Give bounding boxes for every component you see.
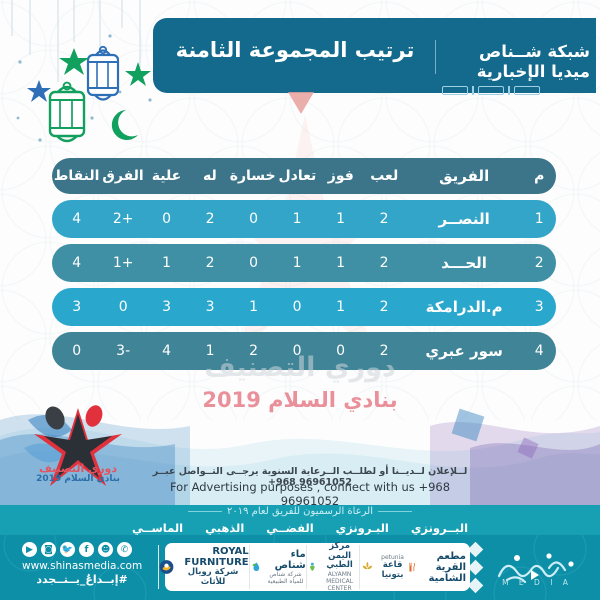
table-row[interactable]: 1 النصــر 2 1 1 0 2 0 +2 4 bbox=[52, 200, 556, 238]
brand-block: شبكة شــناص ميديا الإخبارية bbox=[442, 42, 590, 95]
sponsor-name-en: شركة شناص للمياه الطبيعية bbox=[265, 571, 305, 585]
logo-dashes-icon bbox=[442, 86, 590, 95]
sponsor-logo-petunia-hall[interactable]: petunia قاعة بتونيا bbox=[359, 545, 408, 589]
twitter-icon[interactable]: 🐦 bbox=[60, 542, 75, 557]
table-header-row: م الفريق لعب فوز تعادل خسارة له علية الف… bbox=[52, 158, 556, 194]
sponsors-caption: الرعاة الرسميون للفريق لعام ٢٠١٩ bbox=[0, 506, 600, 517]
cell-points: 4 bbox=[52, 211, 101, 227]
cell-win: 1 bbox=[319, 299, 362, 315]
header-pointer-icon bbox=[288, 92, 314, 114]
sponsor-name-ar: مركز اليمن الطبي bbox=[320, 542, 358, 571]
column-header-points: النقاط bbox=[52, 168, 101, 184]
table-row[interactable]: 3 م.الدرامكة 2 1 0 1 3 3 0 3 bbox=[52, 288, 556, 326]
instagram-icon[interactable]: ◙ bbox=[41, 542, 56, 557]
cell-rank: 1 bbox=[522, 211, 556, 227]
cell-team: النصــر bbox=[406, 210, 523, 228]
sponsor-tiers: الماســي الذهبي الفضــي البـرونزي البــر… bbox=[0, 521, 600, 535]
cell-rank: 2 bbox=[522, 255, 556, 271]
sponsor-name-ar: شركة رويال للأثاث bbox=[177, 568, 248, 588]
cell-win: 1 bbox=[319, 255, 362, 271]
website-url[interactable]: www.shinasmedia.com bbox=[22, 560, 142, 572]
cell-win: 1 bbox=[319, 211, 362, 227]
sponsor-logo-shinas-water[interactable]: ماء شناص شركة شناص للمياه الطبيعية bbox=[249, 545, 306, 589]
sponsor-tier-gold: الذهبي bbox=[205, 521, 244, 535]
column-header-team: الفريق bbox=[406, 167, 522, 185]
tournament-logo-icon bbox=[22, 400, 134, 500]
table-row[interactable]: 2 الحـــد 2 1 1 0 2 1 +1 4 bbox=[52, 244, 556, 282]
cell-diff: +1 bbox=[101, 255, 144, 271]
cell-team: م.الدرامكة bbox=[406, 298, 523, 316]
sponsor-logo-restaurant[interactable]: مطعم القرية الشامية bbox=[408, 545, 466, 589]
cell-draw: 0 bbox=[275, 299, 318, 315]
caption-rule-left bbox=[378, 511, 412, 512]
media-logo-word: M E D I A bbox=[487, 578, 587, 587]
cell-loss: 1 bbox=[232, 299, 275, 315]
caption-rule-right bbox=[188, 511, 222, 512]
cell-loss: 0 bbox=[232, 211, 275, 227]
youtube-icon[interactable]: ▶ bbox=[22, 542, 37, 557]
cell-rank: 3 bbox=[522, 299, 556, 315]
tournament-logo-text-bottom: بنادي السلام 2019 bbox=[22, 474, 134, 484]
cell-played: 2 bbox=[362, 255, 405, 271]
header-divider bbox=[435, 40, 436, 74]
sponsor-name-ar: قاعة بتونيا bbox=[378, 561, 408, 581]
sponsor-logo-medical-center[interactable]: مركز اليمن الطبي ALYAMN MEDICAL CENTER bbox=[306, 545, 359, 589]
sponsor-logos: ROYAL FURNITURE شركة رويال للأثاث ماء شن… bbox=[165, 543, 470, 591]
column-header-diff: الفرق bbox=[101, 168, 144, 184]
standings-table: م الفريق لعب فوز تعادل خسارة له علية الف… bbox=[52, 158, 556, 376]
cell-draw: 1 bbox=[275, 255, 318, 271]
cell-played: 2 bbox=[362, 299, 405, 315]
cell-played: 2 bbox=[362, 211, 405, 227]
sponsor-logo-royal-furniture[interactable]: ROYAL FURNITURE شركة رويال للأثاث bbox=[158, 545, 248, 589]
snapchat-icon[interactable]: ☻ bbox=[98, 542, 113, 557]
cell-for: 2 bbox=[188, 255, 231, 271]
sponsor-name-en: ROYAL FURNITURE bbox=[177, 546, 248, 568]
column-header-rank: م bbox=[522, 168, 556, 184]
cell-points: 3 bbox=[52, 299, 101, 315]
cell-against: 1 bbox=[145, 255, 188, 271]
column-header-for: له bbox=[188, 168, 231, 184]
column-header-against: علية bbox=[145, 168, 188, 184]
royal-furniture-logo-icon bbox=[159, 556, 174, 578]
sponsor-name-ar: مطعم القرية الشامية bbox=[419, 551, 466, 584]
cell-for: 3 bbox=[188, 299, 231, 315]
column-header-win: فوز bbox=[319, 168, 362, 184]
facebook-icon[interactable]: f bbox=[79, 542, 94, 557]
cell-against: 3 bbox=[145, 299, 188, 315]
sponsor-name-ar: ماء شناص bbox=[265, 549, 305, 571]
sponsor-name-en: ALYAMN MEDICAL CENTER bbox=[320, 571, 358, 592]
petunia-hall-logo-icon bbox=[360, 556, 375, 578]
medical-center-logo-icon bbox=[307, 556, 318, 578]
tournament-watermark: دوري التصنيف bbox=[0, 352, 600, 383]
cell-draw: 1 bbox=[275, 211, 318, 227]
column-header-draw: تعادل bbox=[276, 168, 319, 184]
sponsor-tier-bronze-2: البــرونزي bbox=[411, 521, 468, 535]
infographic-page: ترتيب المجموعة الثامنة شبكة شــناص ميديا… bbox=[0, 0, 600, 600]
shinas-water-logo-icon bbox=[250, 556, 263, 578]
advertising-text-english: For Advertising purposes , connect with … bbox=[150, 480, 470, 508]
brand-line-2: ميديا الإخبارية bbox=[442, 62, 590, 82]
social-links[interactable]: ✆ ☻ f 🐦 ◙ ▶ bbox=[22, 542, 132, 557]
cell-loss: 0 bbox=[232, 255, 275, 271]
sponsor-tier-diamond: الماســي bbox=[132, 521, 183, 535]
whatsapp-icon[interactable]: ✆ bbox=[117, 542, 132, 557]
sponsor-tier-bronze-1: البـرونزي bbox=[336, 521, 389, 535]
brand-line-1: شبكة شــناص bbox=[442, 42, 590, 62]
page-title: ترتيب المجموعة الثامنة bbox=[170, 38, 420, 62]
header: ترتيب المجموعة الثامنة شبكة شــناص ميديا… bbox=[0, 18, 600, 110]
cell-points: 4 bbox=[52, 255, 101, 271]
hashtag: #إبــداعٌ_يــتــجدد bbox=[22, 573, 142, 586]
cell-for: 2 bbox=[188, 211, 231, 227]
sponsors-caption-text: الرعاة الرسميون للفريق لعام ٢٠١٩ bbox=[227, 506, 373, 517]
restaurant-fork-logo-icon bbox=[408, 556, 416, 578]
cell-team: الحـــد bbox=[406, 254, 523, 272]
column-header-played: لعب bbox=[363, 168, 406, 184]
cell-diff: 0 bbox=[101, 299, 144, 315]
cell-diff: +2 bbox=[101, 211, 144, 227]
column-header-loss: خسارة bbox=[232, 168, 276, 184]
sponsor-tier-silver: الفضــي bbox=[266, 521, 313, 535]
cell-against: 0 bbox=[145, 211, 188, 227]
